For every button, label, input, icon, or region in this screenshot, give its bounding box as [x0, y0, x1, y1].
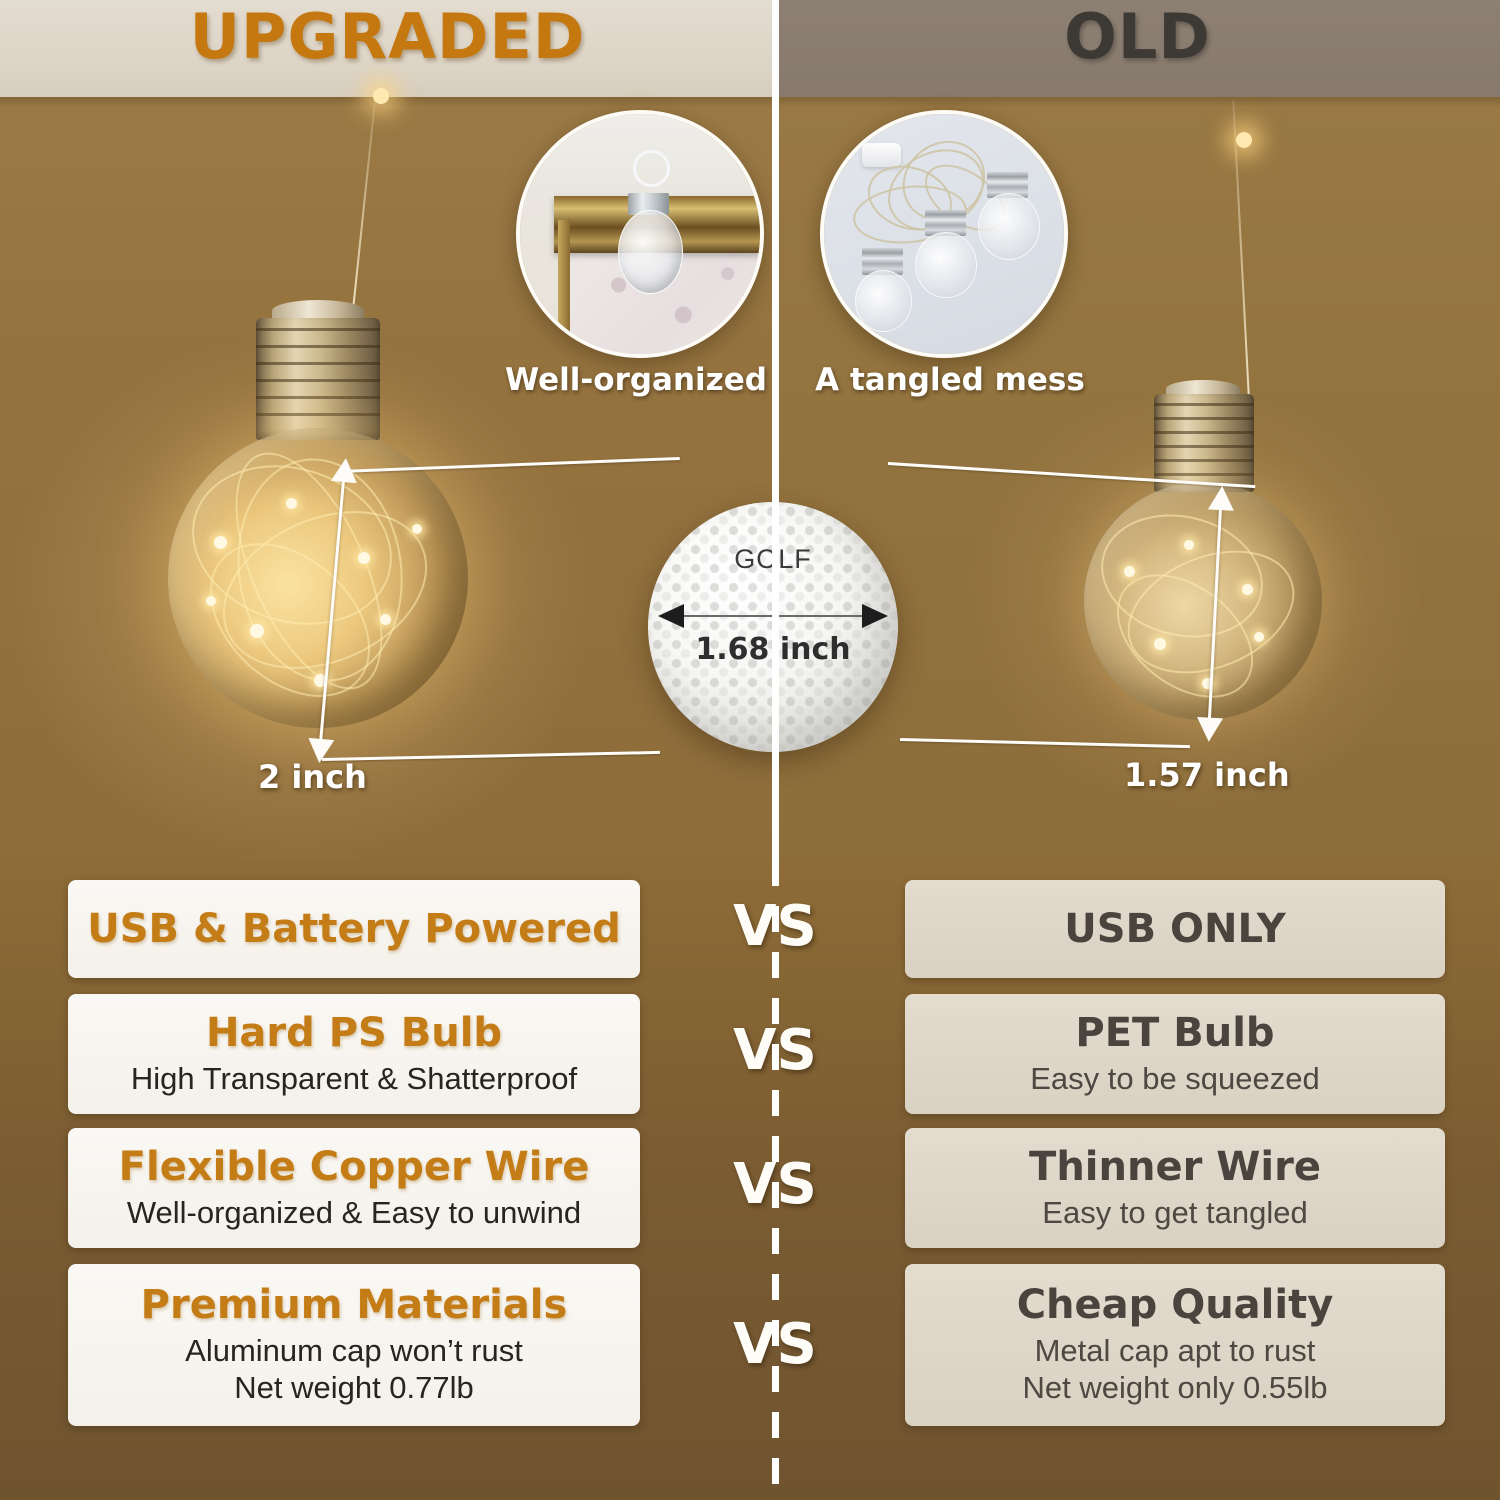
bulb-globe-left [168, 428, 468, 728]
comparison-table: USB & Battery Powered VS USB ONLY Hard P… [0, 860, 1500, 1500]
table-row: Flexible Copper Wire Well-organized & Ea… [68, 1128, 640, 1248]
golf-arrowhead-left [658, 604, 684, 628]
measure-arrowhead-up-left [331, 457, 359, 483]
table-row: PET Bulb Easy to be squeezed [905, 994, 1445, 1114]
row-2-left-sub: High Transparent & Shatterproof [131, 1060, 577, 1097]
row-3-right-title: Thinner Wire [1029, 1145, 1321, 1190]
table-row: Premium Materials Aluminum cap won’t rus… [68, 1264, 640, 1426]
mini-bulb-1 [855, 270, 912, 332]
wire-light-left [373, 88, 389, 104]
row-4-left-sub: Aluminum cap won’t rust [185, 1332, 523, 1369]
row-4-left-sub2: Net weight 0.77lb [234, 1369, 474, 1406]
bulb-cap-left [256, 318, 380, 440]
vertical-divider-dashed [772, 860, 779, 1500]
measure-label-old: 1.57 inch [1124, 756, 1290, 794]
hero-photo-area: UPGRADED OLD [0, 0, 1500, 860]
row-1-right-title: USB ONLY [1064, 907, 1285, 952]
table-row: USB & Battery Powered [68, 880, 640, 978]
bulb-cap-right [1154, 394, 1254, 492]
golf-arrowhead-right [862, 604, 888, 628]
table-row: Hard PS Bulb High Transparent & Shatterp… [68, 994, 640, 1114]
row-4-right-sub2: Net weight only 0.55lb [1022, 1369, 1327, 1406]
page-title-old: OLD [775, 6, 1500, 68]
row-2-right-sub: Easy to be squeezed [1030, 1060, 1320, 1097]
comparison-infographic: UPGRADED OLD [0, 0, 1500, 1500]
vertical-divider [772, 0, 779, 860]
table-row: USB ONLY [905, 880, 1445, 978]
inset-well-organized [516, 110, 764, 358]
inset-tangled-mess [820, 110, 1068, 358]
wire-hook-icon [633, 150, 670, 187]
picture-frame-side [558, 220, 570, 345]
table-row: Cheap Quality Metal cap apt to rust Net … [905, 1264, 1445, 1426]
measure-label-upgraded: 2 inch [258, 758, 367, 796]
mini-bulb-3 [978, 193, 1040, 260]
measure-arrowhead-down-right [1196, 717, 1223, 742]
inset-photo-tangled-mess [824, 114, 1064, 354]
row-2-right-title: PET Bulb [1075, 1011, 1274, 1056]
row-3-left-title: Flexible Copper Wire [119, 1145, 590, 1190]
row-2-left-title: Hard PS Bulb [206, 1011, 502, 1056]
inset-caption-well-organized: Well-organized [466, 362, 806, 398]
header-band-shadow [0, 97, 1500, 107]
inset-bulb-globe [618, 210, 682, 294]
wire-light-right [1236, 132, 1252, 148]
bulb-globe-right [1084, 482, 1322, 720]
usb-plug [862, 143, 900, 167]
row-1-left-title: USB & Battery Powered [87, 907, 620, 952]
row-3-left-sub: Well-organized & Easy to unwind [127, 1194, 581, 1231]
measure-arrowhead-up-right [1208, 485, 1235, 510]
row-4-right-title: Cheap Quality [1017, 1283, 1334, 1328]
table-row: Thinner Wire Easy to get tangled [905, 1128, 1445, 1248]
row-3-right-sub: Easy to get tangled [1042, 1194, 1307, 1231]
inset-photo-well-organized [520, 114, 760, 354]
row-4-left-title: Premium Materials [141, 1283, 568, 1328]
inset-caption-tangled-mess: A tangled mess [780, 362, 1120, 398]
mini-bulb-2 [915, 232, 977, 299]
page-title-upgraded: UPGRADED [0, 6, 775, 68]
row-4-right-sub: Metal cap apt to rust [1035, 1332, 1316, 1369]
